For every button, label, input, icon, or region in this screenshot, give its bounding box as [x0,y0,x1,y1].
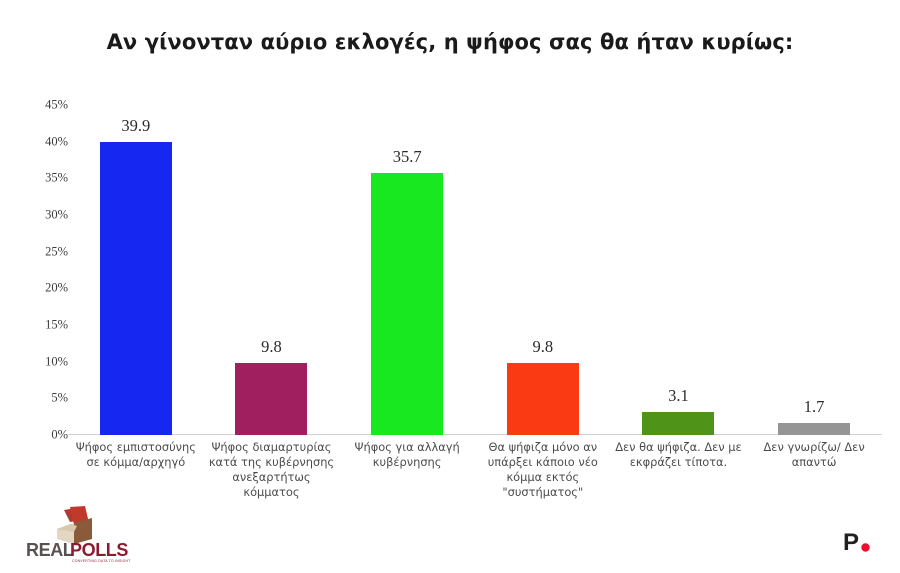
realpolls-logo-svg: REAL POLLS CONVERTING DATA TO INSIGHT [22,505,132,563]
y-tick-label: 5% [8,391,68,406]
chart-root: Αν γίνονταν αύριο εκλογές, η ψήφος σας θ… [0,0,900,573]
p-letter: P [843,529,859,555]
bar-value-label: 1.7 [746,397,882,417]
logo-tagline: CONVERTING DATA TO INSIGHT [72,559,131,563]
bar-rect[interactable] [642,412,714,435]
plot-area: 45% 40% 35% 30% 25% 20% 15% 10% 5% 0% [18,105,882,435]
y-tick-label: 0% [8,428,68,443]
bar-rect[interactable] [507,363,579,435]
p-dot-icon [861,543,869,551]
bar-slot[interactable]: 3.1 [611,105,747,435]
x-axis-category-label: Ψήφος εμπιστοσύνης σε κόμμα/αρχηγό [68,440,204,470]
chart-title: Αν γίνονταν αύριο εκλογές, η ψήφος σας θ… [0,30,900,54]
logo-cubes-icon [57,506,92,544]
logo-text-polls: POLLS [70,540,128,560]
y-tick-label: 45% [8,98,68,113]
x-axis-category-label: Δεν θα ψήφιζα. Δεν με εκφράζει τίποτα. [611,440,747,470]
x-axis-category-label: Ψήφος για αλλαγή κυβέρνησης [339,440,475,470]
bar-slot[interactable]: 35.7 [339,105,475,435]
bar-slot[interactable]: 9.8 [475,105,611,435]
bar-value-label: 3.1 [611,386,747,406]
bar-value-label: 9.8 [204,337,340,357]
y-tick-label: 15% [8,318,68,333]
logo-text-real: REAL [26,540,74,560]
bar-value-label: 9.8 [475,337,611,357]
bar-slot[interactable]: 1.7 [746,105,882,435]
bar-slot[interactable]: 9.8 [204,105,340,435]
bar-rect[interactable] [778,423,850,435]
bar-rect[interactable] [235,363,307,435]
bar-value-label: 39.9 [68,116,204,136]
bars-container: 39.9 9.8 35.7 9.8 3.1 1.7 [68,105,882,435]
x-axis-labels: Ψήφος εμπιστοσύνης σε κόμμα/αρχηγό Ψήφος… [68,440,882,501]
realpolls-logo: REAL POLLS CONVERTING DATA TO INSIGHT [22,505,132,563]
x-axis-category-label: Θα ψήφιζα μόνο αν υπάρξει κάποιο νέο κόμ… [475,440,611,501]
x-axis-category-label: Δεν γνωρίζω/ Δεν απαντώ [746,440,882,470]
y-tick-label: 20% [8,281,68,296]
x-axis-category-label: Ψήφος διαμαρτυρίας κατά της κυβέρνησης α… [204,440,340,501]
p-watermark-svg: P [843,529,877,555]
bar-rect[interactable] [100,142,172,435]
y-tick-label: 35% [8,171,68,186]
y-tick-label: 10% [8,354,68,369]
bar-slot[interactable]: 39.9 [68,105,204,435]
y-tick-label: 40% [8,134,68,149]
y-tick-label: 25% [8,244,68,259]
bar-rect[interactable] [371,173,443,435]
bar-value-label: 35.7 [339,147,475,167]
y-tick-label: 30% [8,208,68,223]
p-watermark-logo: P [843,529,877,555]
